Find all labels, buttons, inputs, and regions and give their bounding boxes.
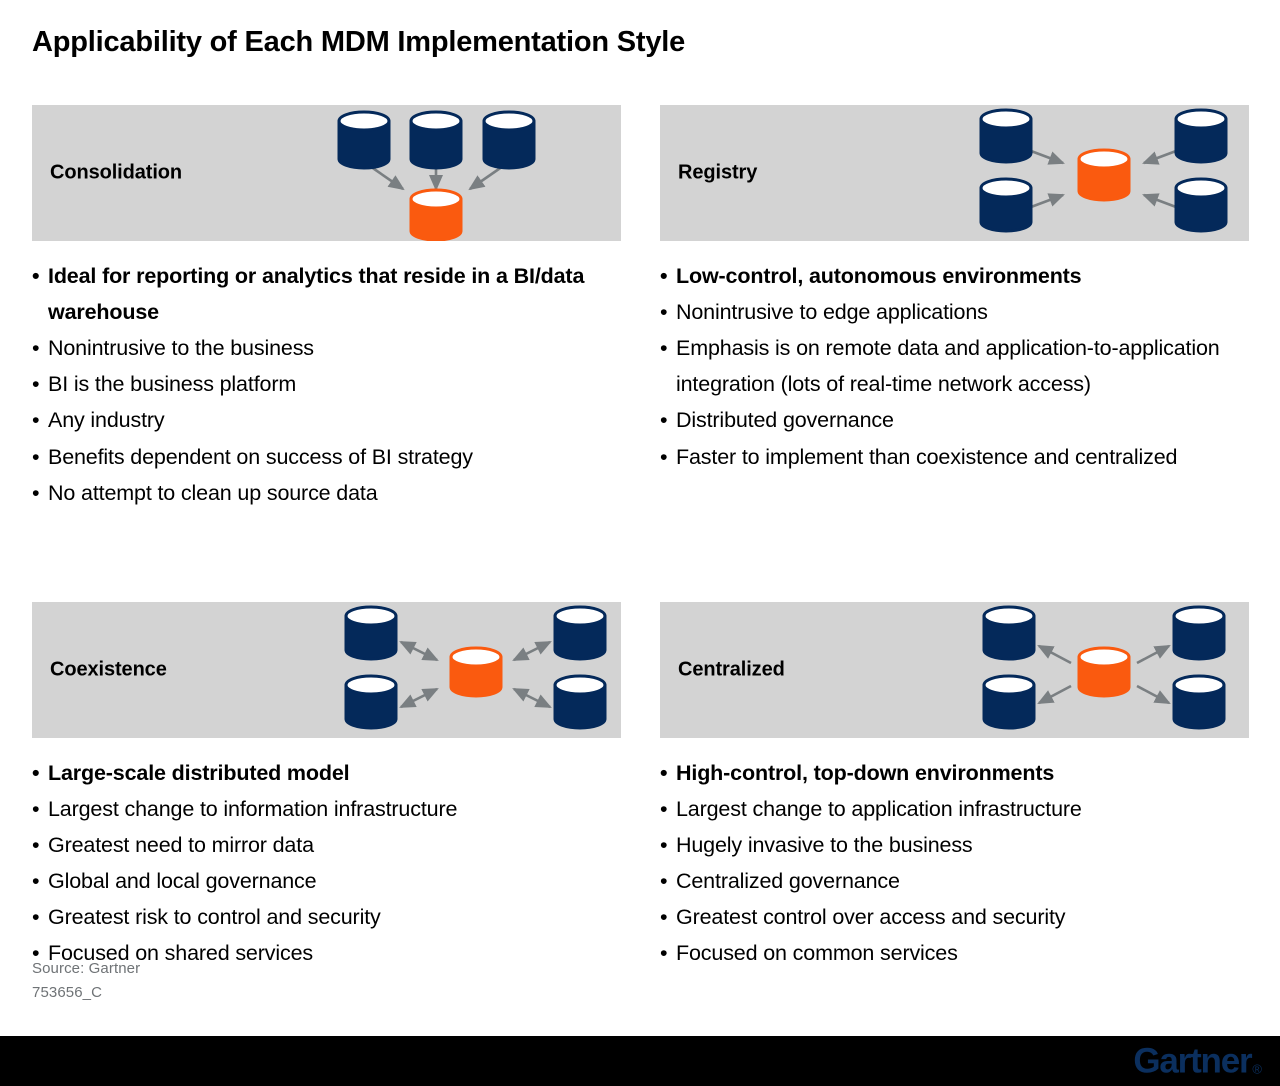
list-item: Global and local governance: [32, 863, 621, 899]
list-item: Hugely invasive to the business: [660, 827, 1249, 863]
panel-header-centralized: Centralized: [660, 602, 1249, 738]
panel-row-bottom: Coexistence: [32, 602, 1249, 972]
centralized-diagram: [959, 602, 1249, 738]
coexistence-diagram: [331, 602, 621, 738]
panel-grid: Consolidation: [32, 105, 1249, 971]
panel-header-coexistence: Coexistence: [32, 602, 621, 738]
bullet-list-registry: Low-control, autonomous environments Non…: [660, 258, 1249, 475]
footer-bar: Gartner ®: [0, 1036, 1280, 1086]
list-item: BI is the business platform: [32, 366, 621, 402]
list-item: Low-control, autonomous environments: [660, 258, 1249, 294]
panel-coexistence: Coexistence: [32, 602, 621, 972]
bullet-list-consolidation: Ideal for reporting or analytics that re…: [32, 258, 621, 511]
consolidation-diagram: [331, 105, 621, 241]
list-item: Largest change to application infrastruc…: [660, 791, 1249, 827]
page-title: Applicability of Each MDM Implementation…: [32, 26, 685, 59]
panel-title-centralized: Centralized: [678, 658, 785, 681]
list-item: Focused on common services: [660, 935, 1249, 971]
list-item: Large-scale distributed model: [32, 755, 621, 791]
document-id: 753656_C: [32, 981, 140, 1005]
list-item: Ideal for reporting or analytics that re…: [32, 258, 621, 330]
panel-header-consolidation: Consolidation: [32, 105, 621, 241]
list-item: Nonintrusive to edge applications: [660, 294, 1249, 330]
list-item: Benefits dependent on success of BI stra…: [32, 439, 621, 475]
panel-title-coexistence: Coexistence: [50, 658, 167, 681]
list-item: Greatest risk to control and security: [32, 899, 621, 935]
list-item: Emphasis is on remote data and applicati…: [660, 330, 1249, 402]
panel-consolidation: Consolidation: [32, 105, 621, 511]
list-item: Any industry: [32, 402, 621, 438]
bullet-list-coexistence: Large-scale distributed model Largest ch…: [32, 755, 621, 972]
gartner-wordmark: Gartner: [1133, 1044, 1251, 1079]
source-note: Source: Gartner: [32, 957, 140, 981]
list-item: Faster to implement than coexistence and…: [660, 439, 1249, 475]
list-item: Largest change to information infrastruc…: [32, 791, 621, 827]
panel-centralized: Centralized: [660, 602, 1249, 972]
registered-trademark-icon: ®: [1252, 1063, 1262, 1076]
registry-diagram: [959, 105, 1249, 241]
panel-row-top: Consolidation: [32, 105, 1249, 511]
panel-header-registry: Registry: [660, 105, 1249, 241]
panel-title-registry: Registry: [678, 162, 757, 185]
panel-registry: Registry: [660, 105, 1249, 511]
list-item: No attempt to clean up source data: [32, 475, 621, 511]
list-item: High-control, top-down environments: [660, 755, 1249, 791]
list-item: Nonintrusive to the business: [32, 330, 621, 366]
list-item: Greatest control over access and securit…: [660, 899, 1249, 935]
panel-title-consolidation: Consolidation: [50, 162, 182, 185]
list-item: Centralized governance: [660, 863, 1249, 899]
list-item: Greatest need to mirror data: [32, 827, 621, 863]
list-item: Distributed governance: [660, 402, 1249, 438]
footnotes: Source: Gartner 753656_C: [32, 957, 140, 1006]
bullet-list-centralized: High-control, top-down environments Larg…: [660, 755, 1249, 972]
gartner-logo: Gartner ®: [1133, 1044, 1262, 1079]
